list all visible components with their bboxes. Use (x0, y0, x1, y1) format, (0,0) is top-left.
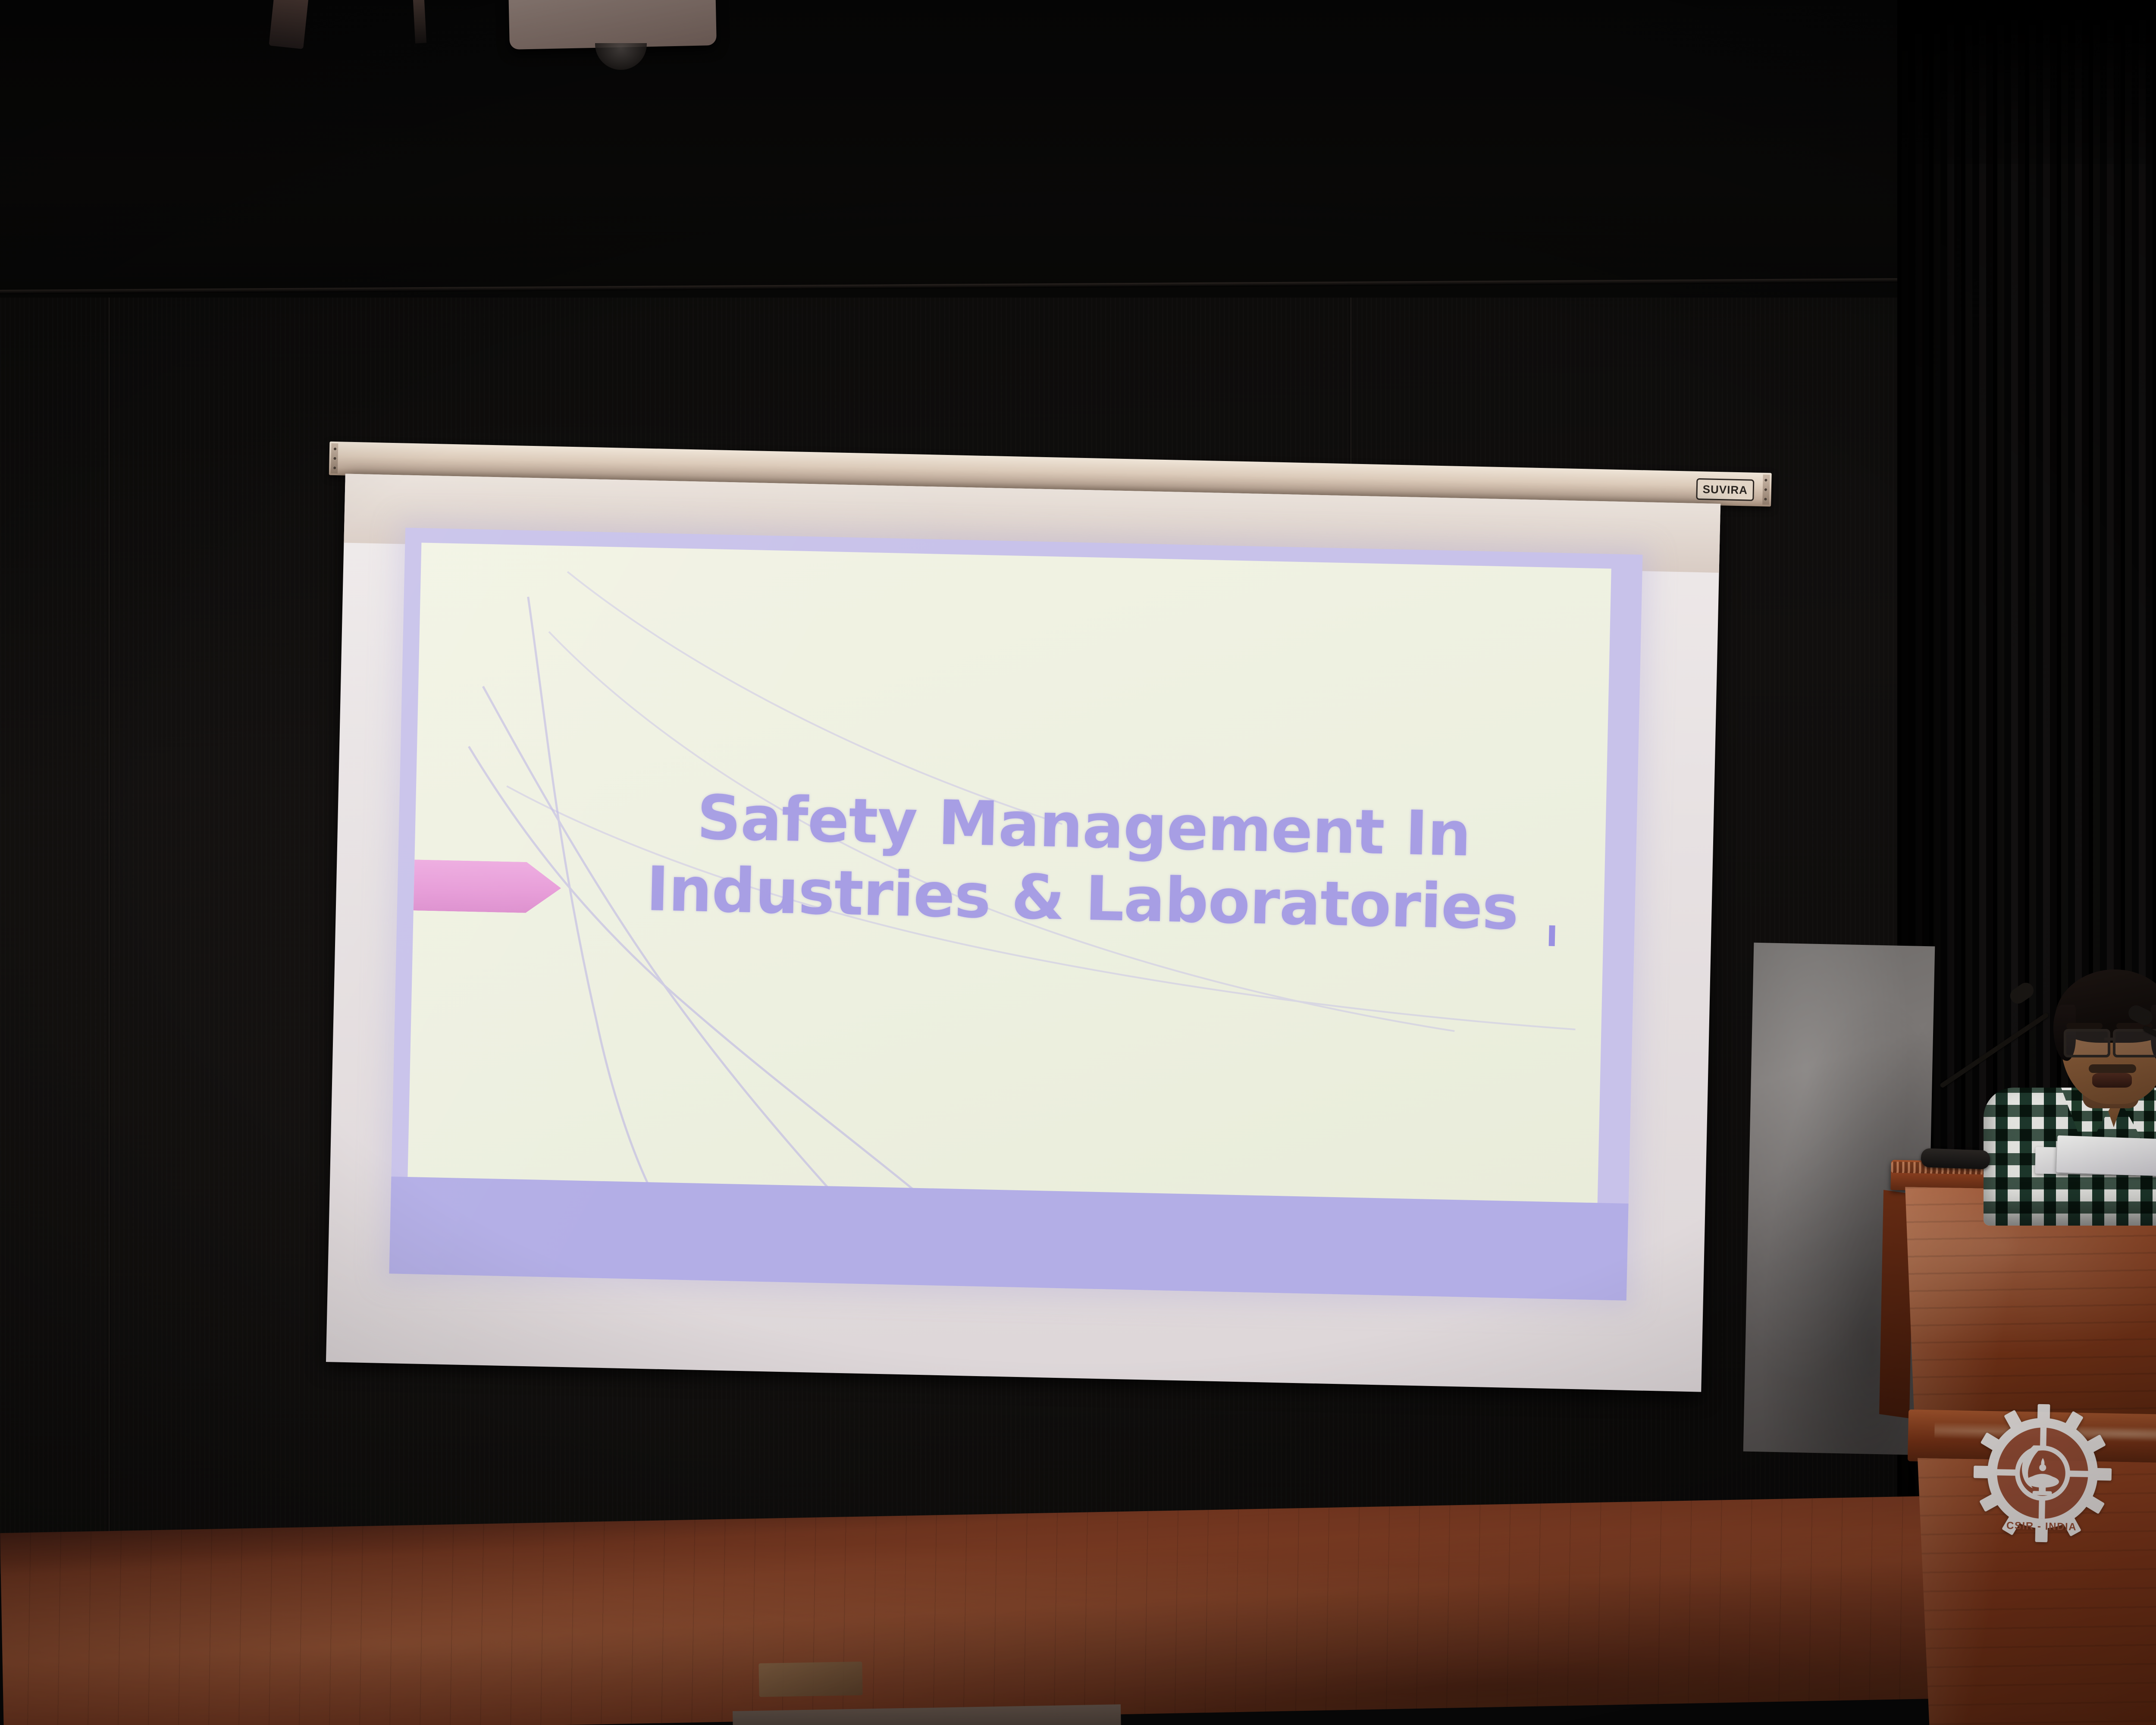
svg-text:CSIR - INDIA: CSIR - INDIA (2006, 1520, 2077, 1533)
wall-vertical-seam-left (108, 298, 110, 1548)
presentation-remote[interactable] (1921, 1148, 1990, 1170)
eyeglasses-bridge-icon (2104, 1038, 2114, 1041)
slide-right-tick-icon (1549, 925, 1555, 946)
speaker-mouth (2092, 1073, 2132, 1088)
csir-india-emblem-icon: CSIR - INDIA (1972, 1403, 2113, 1543)
projector-screen-assembly[interactable]: SUVIRA (309, 442, 1774, 1426)
speaker-moustache (2089, 1064, 2136, 1073)
floor-access-plate (758, 1662, 862, 1697)
screen-screws-left-icon (332, 446, 337, 471)
slide-content-area: Safety Management In Industries & Labora… (407, 543, 1611, 1207)
auditorium-scene: SUVIRA (0, 0, 2156, 1725)
screen-brand-label: SUVIRA (1696, 478, 1754, 501)
upper-wall-panel (0, 0, 2156, 302)
ceiling-light-fixture (508, 0, 717, 50)
stage-floor (0, 1495, 1987, 1725)
projected-slide: Safety Management In Industries & Labora… (389, 528, 1642, 1301)
eyeglasses-left-lens-icon (2064, 1029, 2110, 1057)
wooden-podium: CSIR - INDIA (1891, 1164, 2156, 1725)
screen-screws-right-icon (1763, 477, 1768, 502)
ceiling-rod-icon (413, 0, 426, 44)
curtain-top-shadow (1897, 0, 2156, 164)
lectern-papers[interactable] (2056, 1135, 2156, 1179)
ceiling-bracket-icon (269, 0, 309, 49)
speaker-brow-left (2066, 1023, 2103, 1029)
slide-title: Safety Management In Industries & Labora… (599, 780, 1567, 945)
